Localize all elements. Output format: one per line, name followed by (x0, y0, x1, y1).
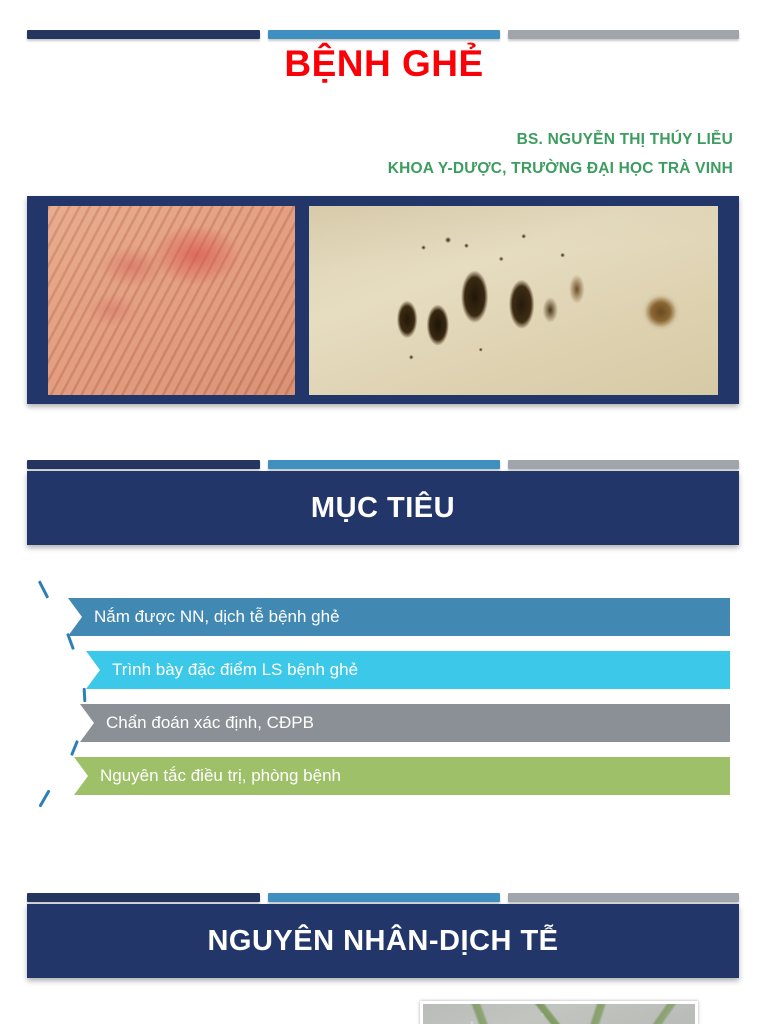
objective-item[interactable]: Nguyên tắc điều trị, phòng bệnh (74, 757, 730, 795)
mite-microscopy-photo (309, 206, 718, 395)
section-header-etiology: NGUYÊN NHÂN-DỊCH TỄ (27, 904, 739, 978)
arc-tick-icon (38, 580, 49, 598)
deco-segment-gray (508, 893, 739, 902)
deco-gap (500, 30, 508, 39)
arc-tick-icon (83, 688, 87, 702)
slide-deck-page: BỆNH GHẺ BS. NGUYỄN THỊ THÚY LIỄU KHOA Y… (0, 0, 768, 1024)
arc-tick-icon (70, 740, 79, 756)
deco-segment-blue (268, 460, 500, 469)
deco-segment-gray (508, 460, 739, 469)
deco-segment-blue (268, 30, 500, 39)
slide-etiology: NGUYÊN NHÂN-DỊCH TỄ (27, 893, 739, 978)
objective-item[interactable]: Chẩn đoán xác định, CĐPB (80, 704, 730, 742)
section-title: NGUYÊN NHÂN-DỊCH TỄ (207, 925, 558, 958)
section-title: MỤC TIÊU (311, 492, 455, 525)
deco-segment-gray (508, 30, 739, 39)
slide-objectives: MỤC TIÊU (27, 460, 739, 545)
title-image-panel (27, 196, 739, 404)
page-title: BỆNH GHẺ (0, 44, 768, 84)
author-affiliation: KHOA Y-DƯỢC, TRƯỜNG ĐẠI HỌC TRÀ VINH (388, 161, 733, 177)
objective-label: Nguyên tắc điều trị, phòng bệnh (100, 766, 341, 786)
objective-label: Chẩn đoán xác định, CĐPB (106, 713, 314, 733)
objective-item[interactable]: Trình bày đặc điểm LS bệnh ghẻ (86, 651, 730, 689)
deco-segment-navy (27, 460, 260, 469)
deco-gap (260, 460, 268, 469)
objectives-list: Nắm được NN, dịch tễ bệnh ghẻ Trình bày … (0, 570, 768, 820)
deco-gap (500, 460, 508, 469)
deco-gap (500, 893, 508, 902)
author-name: BS. NGUYỄN THỊ THÚY LIỄU (388, 132, 733, 148)
mite-slide-microscopy-frame (420, 1001, 698, 1024)
deco-gap (260, 893, 268, 902)
objective-label: Trình bày đặc điểm LS bệnh ghẻ (112, 660, 358, 680)
objective-label: Nắm được NN, dịch tễ bệnh ghẻ (94, 607, 340, 627)
section-header-objectives: MỤC TIÊU (27, 471, 739, 545)
deco-segment-navy (27, 30, 260, 39)
mite-slide-microscopy-photo (423, 1004, 695, 1024)
skin-rash-photo (48, 206, 295, 395)
deco-bar-etiology (27, 893, 739, 902)
deco-segment-navy (27, 893, 260, 902)
objective-item[interactable]: Nắm được NN, dịch tễ bệnh ghẻ (68, 598, 730, 636)
deco-segment-blue (268, 893, 500, 902)
deco-bar-top (27, 30, 739, 39)
author-block: BS. NGUYỄN THỊ THÚY LIỄU KHOA Y-DƯỢC, TR… (388, 132, 733, 189)
arc-tick-icon (38, 790, 50, 808)
deco-gap (260, 30, 268, 39)
deco-bar-objectives (27, 460, 739, 469)
